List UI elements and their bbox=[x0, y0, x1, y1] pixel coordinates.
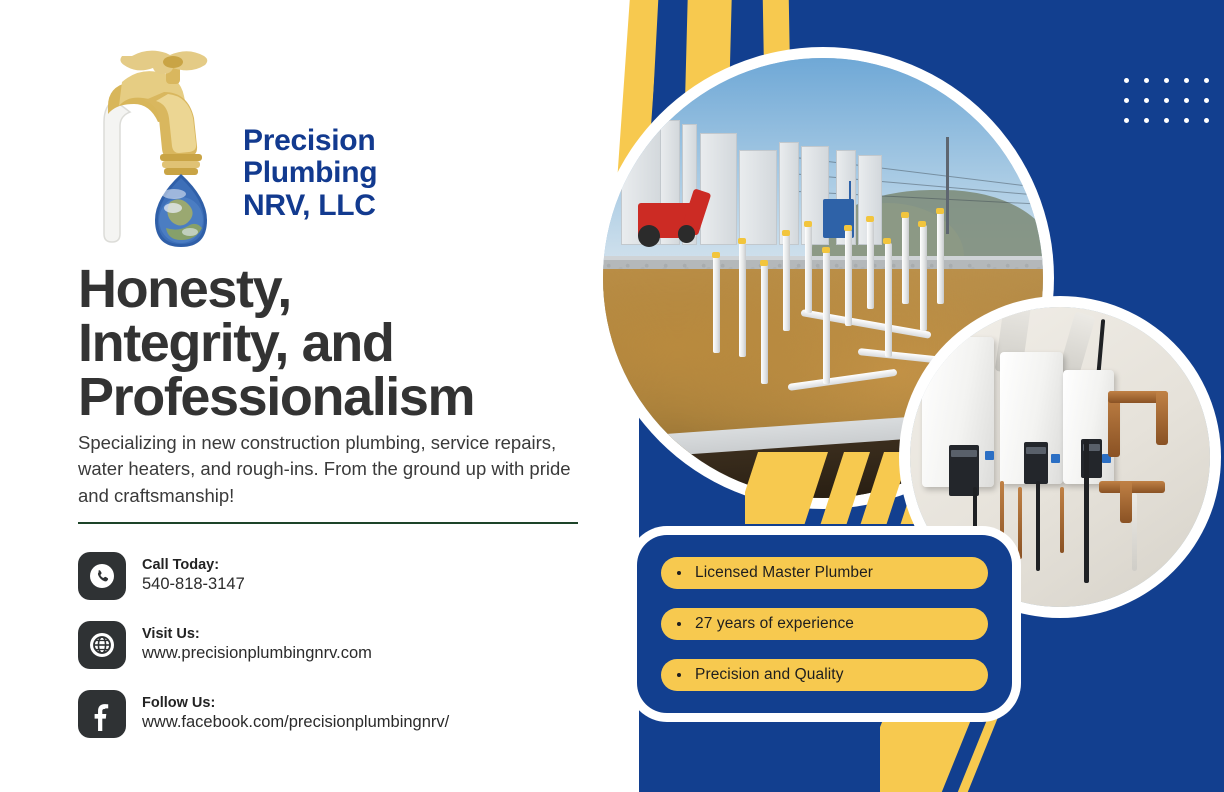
logo-wordmark: Precision Plumbing NRV, LLC bbox=[243, 125, 377, 222]
pvc-stub bbox=[937, 212, 944, 304]
dot bbox=[1204, 78, 1209, 83]
feature-pill-1[interactable]: Licensed Master Plumber bbox=[661, 557, 988, 589]
headline-line-3: Professionalism bbox=[78, 370, 578, 424]
contact-text: Visit Us: www.precisionplumbingnrv.com bbox=[142, 625, 372, 665]
dot-grid-decoration bbox=[1124, 78, 1224, 138]
headline-line-2: Integrity, and bbox=[78, 316, 578, 370]
pvc-cap bbox=[936, 208, 944, 214]
copper-riser bbox=[1018, 487, 1022, 559]
contact-list: Call Today: 540-818-3147 Visit Us: bbox=[78, 552, 588, 759]
contact-label: Visit Us: bbox=[142, 625, 372, 643]
pvc-stub bbox=[739, 243, 746, 357]
logo-line-3: NRV, LLC bbox=[243, 190, 377, 222]
gas-drop-leg bbox=[1036, 481, 1040, 571]
energy-star-badge bbox=[985, 451, 994, 460]
copper-pipe bbox=[1099, 481, 1165, 493]
utility-pole bbox=[946, 137, 949, 234]
bullet-icon bbox=[677, 622, 681, 626]
section-divider bbox=[78, 522, 578, 524]
pvc-cap bbox=[804, 221, 812, 227]
left-content: Precision Plumbing NRV, LLC Honesty, Int… bbox=[0, 0, 600, 792]
company-logo: Precision Plumbing NRV, LLC bbox=[78, 42, 498, 252]
pvc-stub bbox=[761, 265, 768, 384]
pvc-cap bbox=[760, 260, 768, 266]
dot bbox=[1164, 98, 1169, 103]
pvc-cap bbox=[844, 225, 852, 231]
pvc-stub bbox=[713, 256, 720, 353]
dot bbox=[1204, 118, 1209, 123]
pvc-cap bbox=[782, 230, 790, 236]
subheadline-text: Specializing in new construction plumbin… bbox=[78, 430, 588, 509]
dot bbox=[1124, 78, 1129, 83]
contact-text: Follow Us: www.facebook.com/precisionplu… bbox=[142, 694, 449, 734]
contact-value: www.precisionplumbingnrv.com bbox=[142, 643, 372, 664]
contact-row-website[interactable]: Visit Us: www.precisionplumbingnrv.com bbox=[78, 621, 588, 669]
copper-riser bbox=[1060, 487, 1064, 553]
heater-control-panel bbox=[1024, 442, 1048, 484]
dot bbox=[1184, 98, 1189, 103]
copper-pipe bbox=[1120, 481, 1132, 523]
pvc-stub bbox=[845, 230, 852, 327]
pvc-stub bbox=[823, 252, 830, 384]
tractor-wheel bbox=[678, 225, 696, 243]
copper-pipe bbox=[1156, 391, 1168, 445]
pvc-cap bbox=[712, 252, 720, 258]
bullet-icon bbox=[677, 571, 681, 575]
pvc-cap bbox=[822, 247, 830, 253]
feature-pill-2[interactable]: 27 years of experience bbox=[661, 608, 988, 640]
stripe-yellow bbox=[745, 452, 834, 524]
pvc-stub bbox=[902, 216, 909, 304]
pvc-cap bbox=[738, 238, 746, 244]
gas-drop-leg bbox=[1084, 439, 1089, 583]
dot bbox=[1144, 118, 1149, 123]
pvc-stub bbox=[805, 225, 812, 313]
flyer-canvas: Licensed Master Plumber 27 years of expe… bbox=[0, 0, 1224, 792]
faucet-water-drop-icon bbox=[78, 42, 258, 252]
feature-label: Precision and Quality bbox=[695, 666, 844, 684]
pvc-stub bbox=[783, 234, 790, 331]
bullet-icon bbox=[677, 673, 681, 677]
pvc-stub bbox=[885, 243, 892, 357]
dot bbox=[1184, 118, 1189, 123]
dot bbox=[1144, 98, 1149, 103]
dot bbox=[1164, 78, 1169, 83]
feature-label: Licensed Master Plumber bbox=[695, 564, 873, 582]
dot bbox=[1164, 118, 1169, 123]
headline: Honesty, Integrity, and Professionalism bbox=[78, 262, 578, 424]
facebook-icon bbox=[78, 690, 126, 738]
pvc-stub bbox=[867, 221, 874, 309]
contact-text: Call Today: 540-818-3147 bbox=[142, 556, 245, 596]
dot bbox=[1124, 98, 1129, 103]
icf-wall bbox=[700, 133, 737, 245]
pvc-cap bbox=[901, 212, 909, 218]
headline-line-1: Honesty, bbox=[78, 262, 578, 316]
energy-star-badge bbox=[1051, 454, 1060, 463]
phone-icon bbox=[78, 552, 126, 600]
contact-label: Follow Us: bbox=[142, 694, 449, 712]
pvc-cap bbox=[918, 221, 926, 227]
dot bbox=[1184, 78, 1189, 83]
feature-label: 27 years of experience bbox=[695, 615, 854, 633]
contact-value: www.facebook.com/precisionplumbingnrv/ bbox=[142, 712, 449, 733]
dot bbox=[1144, 78, 1149, 83]
feature-pill-3[interactable]: Precision and Quality bbox=[661, 659, 988, 691]
logo-line-1: Precision bbox=[243, 125, 377, 157]
features-card: Licensed Master Plumber 27 years of expe… bbox=[637, 535, 1012, 713]
contact-value: 540-818-3147 bbox=[142, 574, 245, 595]
pvc-cap bbox=[866, 216, 874, 222]
condensate-line bbox=[1132, 493, 1137, 571]
contact-label: Call Today: bbox=[142, 556, 245, 574]
contact-row-facebook[interactable]: Follow Us: www.facebook.com/precisionplu… bbox=[78, 690, 588, 738]
icf-wall bbox=[739, 150, 776, 244]
logo-line-2: Plumbing bbox=[243, 157, 377, 189]
pvc-cap bbox=[883, 238, 891, 244]
globe-icon bbox=[78, 621, 126, 669]
contact-row-phone[interactable]: Call Today: 540-818-3147 bbox=[78, 552, 588, 600]
dot bbox=[1204, 98, 1209, 103]
dot bbox=[1124, 118, 1129, 123]
